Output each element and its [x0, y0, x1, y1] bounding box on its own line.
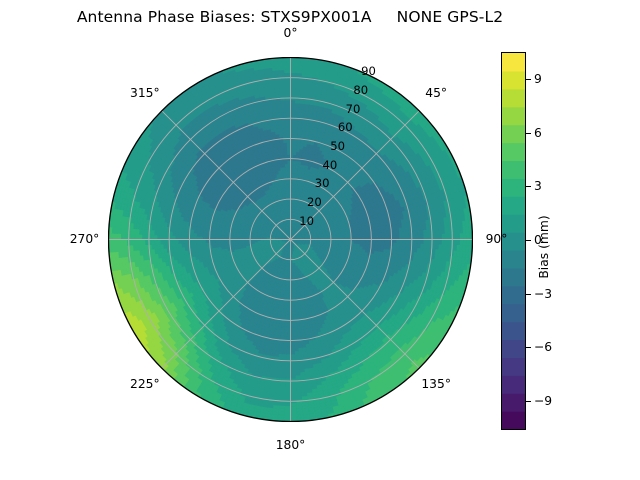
colorbar-tick-label-4: −3 [534, 287, 552, 301]
colorbar-tick-5 [526, 347, 531, 348]
colorbar-tick-label-6: −9 [534, 394, 552, 408]
azimuth-tick-label-135: 135° [406, 377, 466, 391]
azimuth-tick-label-45: 45° [406, 86, 466, 100]
polar-gridlines [109, 58, 473, 422]
colorbar-tick-label-3: 0 [534, 233, 542, 247]
colorbar-tick-label-0: 9 [534, 72, 542, 86]
radial-tick-label-20: 20 [307, 195, 322, 209]
colorbar-tick-4 [526, 294, 531, 295]
radial-tick-label-90: 90 [361, 64, 376, 78]
colorbar-tick-label-1: 6 [534, 126, 542, 140]
colorbar-tick-1 [526, 133, 531, 134]
radial-tick-label-70: 70 [346, 102, 361, 116]
azimuth-tick-label-225: 225° [115, 377, 175, 391]
polar-heatmap-svg [108, 57, 473, 422]
colorbar-tick-label-5: −6 [534, 340, 552, 354]
radial-tick-label-30: 30 [315, 176, 330, 190]
azimuth-tick-label-315: 315° [115, 86, 175, 100]
radial-tick-label-10: 10 [299, 214, 314, 228]
colorbar-tick-3 [526, 240, 531, 241]
colorbar-tick-6 [526, 401, 531, 402]
colorbar-tick-2 [526, 186, 531, 187]
page-title: Antenna Phase Biases: STXS9PX001A NONE G… [0, 8, 580, 26]
colorbar-tick-0 [526, 79, 531, 80]
radial-tick-label-50: 50 [330, 139, 345, 153]
figure-canvas: Antenna Phase Biases: STXS9PX001A NONE G… [0, 0, 640, 480]
azimuth-tick-label-0: 0° [261, 26, 321, 40]
colorbar-axis-label: Bias (mm) [537, 215, 551, 278]
azimuth-tick-label-180: 180° [261, 438, 321, 452]
azimuth-tick-label-90: 90° [467, 232, 527, 246]
polar-plot-axes[interactable] [108, 57, 473, 422]
radial-tick-label-60: 60 [338, 120, 353, 134]
radial-tick-label-40: 40 [322, 158, 337, 172]
colorbar-tick-label-2: 3 [534, 179, 542, 193]
azimuth-tick-label-270: 270° [55, 232, 115, 246]
radial-tick-label-80: 80 [353, 83, 368, 97]
